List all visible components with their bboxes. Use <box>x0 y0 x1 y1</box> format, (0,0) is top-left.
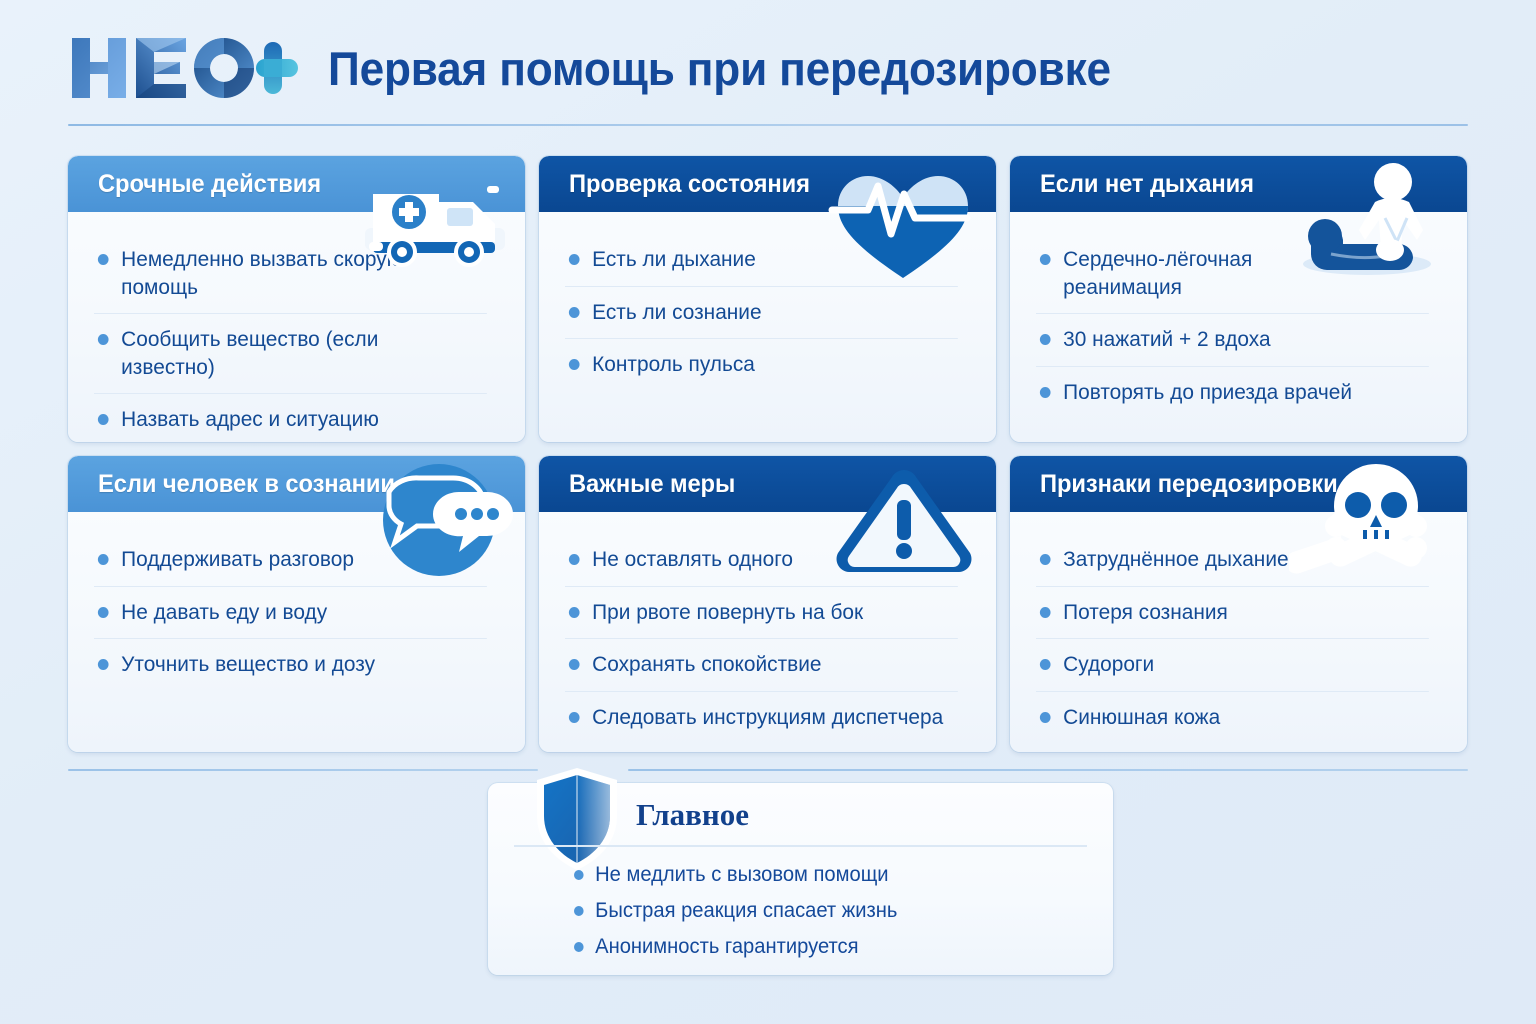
list-item: Судороги <box>1036 639 1429 692</box>
list-item: Анонимность гарантируется <box>574 929 897 965</box>
list-item: Быстрая реакция спасает жизнь <box>574 893 897 929</box>
footer-divider-right <box>628 769 1468 771</box>
card-no-breathing[interactable]: Если нет дыхания Сердечно-лёгочная реани… <box>1010 156 1467 442</box>
list-item: Сообщить вещество (если известно) <box>94 314 487 394</box>
list-item: Сердечно-лёгочная реанимация <box>1036 234 1429 314</box>
card-list: Есть ли дыхание Есть ли сознание Контрол… <box>565 234 970 391</box>
card-body: Поддерживать разговор Не давать еду и во… <box>68 512 525 707</box>
bullet-dot <box>569 659 580 670</box>
bullet-dot <box>1040 387 1051 398</box>
bullet-dot <box>98 254 109 265</box>
brand-logo <box>68 32 300 104</box>
list-item-text: 30 нажатий + 2 вдоха <box>1063 326 1270 354</box>
bullet-dot <box>1040 334 1051 345</box>
bullet-dot <box>569 307 580 318</box>
card-list: Поддерживать разговор Не давать еду и во… <box>94 534 499 691</box>
card-title: Важные меры <box>569 470 735 499</box>
bullet-dot <box>98 334 109 345</box>
list-item-text: Контроль пульса <box>592 351 755 379</box>
card-title: Если человек в сознании <box>98 470 395 499</box>
card-list: Сердечно-лёгочная реанимация 30 нажатий … <box>1036 234 1441 418</box>
summary-title: Главное <box>636 797 749 833</box>
card-title: Срочные действия <box>98 170 321 199</box>
bullet-dot <box>574 942 584 952</box>
header-divider <box>68 124 1468 126</box>
summary-divider <box>514 845 1087 847</box>
list-item: Назвать адрес и ситуацию <box>94 394 487 442</box>
list-item: При рвоте повернуть на бок <box>565 587 958 640</box>
bullet-dot <box>98 554 109 565</box>
card-status-check[interactable]: Проверка состояния Есть ли дыхание Есть … <box>539 156 996 442</box>
bullet-dot <box>574 870 584 880</box>
list-item: 30 нажатий + 2 вдоха <box>1036 314 1429 367</box>
list-item-text: Повторять до приезда врачей <box>1063 379 1352 407</box>
bullet-dot <box>1040 554 1051 565</box>
list-item: Сохранять спокойствие <box>565 639 958 692</box>
list-item-text: Сохранять спокойствие <box>592 651 821 679</box>
list-item-text: Немедленно вызвать скорую помощь <box>121 246 441 301</box>
list-item-text: Затруднённое дыхание <box>1063 546 1288 574</box>
list-item-text: Потеря сознания <box>1063 599 1228 627</box>
card-body: Затруднённое дыхание Потеря сознания Суд… <box>1010 512 1467 752</box>
card-conscious-person[interactable]: Если человек в сознании Поддерживать раз… <box>68 456 525 752</box>
bullet-dot <box>98 414 109 425</box>
bullet-dot <box>569 712 580 723</box>
card-list: Затруднённое дыхание Потеря сознания Суд… <box>1036 534 1441 743</box>
bullet-dot <box>98 607 109 618</box>
list-item-text: Назвать адрес и ситуацию <box>121 406 379 434</box>
list-item: Уточнить вещество и дозу <box>94 639 487 691</box>
card-body: Немедленно вызвать скорую помощь Сообщит… <box>68 212 525 442</box>
list-item-text: Есть ли сознание <box>592 299 761 327</box>
card-body: Не оставлять одного При рвоте повернуть … <box>539 512 996 752</box>
list-item-text: Быстрая реакция спасает жизнь <box>595 899 897 923</box>
card-header: Если человек в сознании <box>68 456 525 512</box>
list-item: Есть ли сознание <box>565 287 958 340</box>
summary-panel[interactable]: Главное Не медлить с вызовом помощи Быст… <box>488 783 1113 975</box>
card-title: Если нет дыхания <box>1040 170 1254 199</box>
bullet-dot <box>569 554 580 565</box>
list-item: Есть ли дыхание <box>565 234 958 287</box>
list-item-text: Не оставлять одного <box>592 546 793 574</box>
card-header: Важные меры <box>539 456 996 512</box>
bullet-dot <box>569 254 580 265</box>
bullet-dot <box>574 906 584 916</box>
list-item-text: При рвоте повернуть на бок <box>592 599 863 627</box>
bullet-dot <box>569 607 580 618</box>
bullet-dot <box>1040 607 1051 618</box>
card-header: Срочные действия <box>68 156 525 212</box>
bullet-dot <box>1040 659 1051 670</box>
page-header: Первая помощь при передозировке <box>68 22 1468 114</box>
card-title: Проверка состояния <box>569 170 810 199</box>
card-body: Есть ли дыхание Есть ли сознание Контрол… <box>539 212 996 407</box>
card-header: Проверка состояния <box>539 156 996 212</box>
bullet-dot <box>1040 254 1051 265</box>
card-list: Немедленно вызвать скорую помощь Сообщит… <box>94 234 499 442</box>
list-item: Поддерживать разговор <box>94 534 487 587</box>
card-important-measures[interactable]: Важные меры Не оставлять одного При рвот… <box>539 456 996 752</box>
list-item-text: Уточнить вещество и дозу <box>121 651 375 679</box>
list-item-text: Судороги <box>1063 651 1154 679</box>
card-body: Сердечно-лёгочная реанимация 30 нажатий … <box>1010 212 1467 434</box>
list-item-text: Анонимность гарантируется <box>595 935 858 959</box>
list-item-text: Есть ли дыхание <box>592 246 756 274</box>
list-item: Не оставлять одного <box>565 534 958 587</box>
cards-grid: Срочные действия <box>68 156 1468 752</box>
list-item-text: Не медлить с вызовом помощи <box>595 863 888 887</box>
list-item-text: Сердечно-лёгочная реанимация <box>1063 246 1306 301</box>
card-header: Если нет дыхания <box>1010 156 1467 212</box>
list-item: Контроль пульса <box>565 339 958 391</box>
list-item: Потеря сознания <box>1036 587 1429 640</box>
summary-list: Не медлить с вызовом помощи Быстрая реак… <box>574 857 911 965</box>
list-item: Синюшная кожа <box>1036 692 1429 744</box>
list-item-text: Следовать инструкциям диспетчера <box>592 704 943 732</box>
bullet-dot <box>1040 712 1051 723</box>
card-urgent-actions[interactable]: Срочные действия <box>68 156 525 442</box>
bullet-dot <box>569 359 580 370</box>
list-item: Повторять до приезда врачей <box>1036 367 1429 419</box>
card-overdose-signs[interactable]: Признаки передозировки <box>1010 456 1467 752</box>
card-title: Признаки передозировки <box>1040 470 1338 499</box>
list-item-text: Поддерживать разговор <box>121 546 354 574</box>
card-header: Признаки передозировки <box>1010 456 1467 512</box>
list-item-text: Сообщить вещество (если известно) <box>121 326 441 381</box>
list-item-text: Не давать еду и воду <box>121 599 327 627</box>
card-list: Не оставлять одного При рвоте повернуть … <box>565 534 970 743</box>
list-item-text: Синюшная кожа <box>1063 704 1220 732</box>
footer-divider-left <box>68 769 538 771</box>
list-item: Не медлить с вызовом помощи <box>574 857 897 893</box>
page-title: Первая помощь при передозировке <box>328 45 1111 92</box>
list-item: Немедленно вызвать скорую помощь <box>94 234 487 314</box>
list-item: Не давать еду и воду <box>94 587 487 640</box>
list-item: Следовать инструкциям диспетчера <box>565 692 958 744</box>
list-item: Затруднённое дыхание <box>1036 534 1429 587</box>
bullet-dot <box>98 659 109 670</box>
